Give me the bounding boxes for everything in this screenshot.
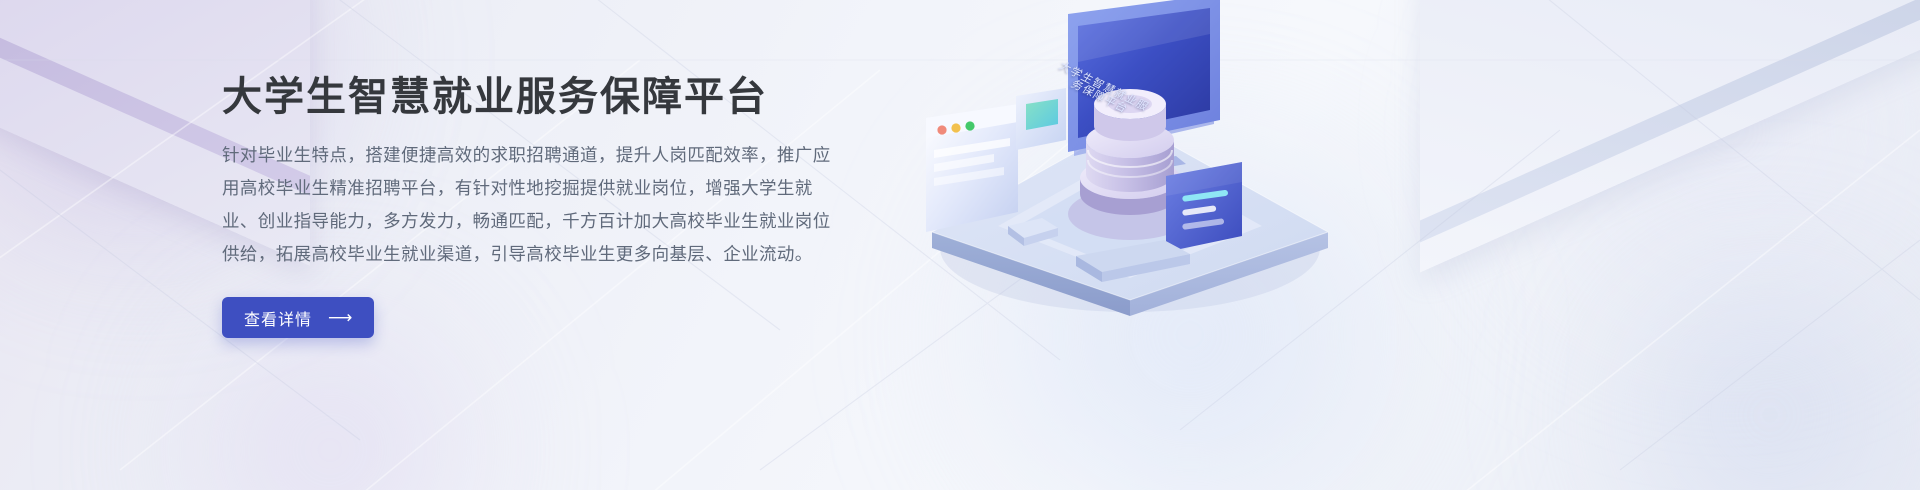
decorative-slab-right-edge <box>1420 0 1920 242</box>
description-line: 针对毕业生特点，搭建便捷高效的求职招聘通道，提升人岗匹配效率，推广应 <box>222 139 844 172</box>
view-details-label: 查看详情 <box>244 306 312 330</box>
arrow-right-icon: ⟶ <box>328 309 352 326</box>
illustration-browser-window <box>926 104 1018 232</box>
description-line: 用高校毕业生精准招聘平台，有针对性地挖掘提供就业岗位，增强大学生就 <box>222 172 844 205</box>
hero-illustration <box>890 0 1390 330</box>
description-line: 供给，拓展高校毕业生就业渠道，引导高校毕业生更多向基层、企业流动。 <box>222 238 844 271</box>
page-title: 大学生智慧就业服务保障平台 <box>222 74 862 120</box>
decorative-bloom-top-right <box>1450 0 1920 360</box>
description-line: 业、创业指导能力，多方发力，畅通匹配，千方百计加大高校毕业生就业岗位 <box>222 205 844 238</box>
decorative-bloom-lower-right <box>1560 250 1920 490</box>
illustration-accent-card <box>1016 88 1066 150</box>
hero-banner: 大学生智慧就业服务保障平台 针对毕业生特点，搭建便捷高效的求职招聘通道，提升人岗… <box>0 0 1920 490</box>
hero-description: 针对毕业生特点，搭建便捷高效的求职招聘通道，提升人岗匹配效率，推广应 用高校毕业… <box>222 139 844 271</box>
decorative-slab-right <box>1420 0 1920 272</box>
hero-copy: 大学生智慧就业服务保障平台 针对毕业生特点，搭建便捷高效的求职招聘通道，提升人岗… <box>222 74 862 338</box>
view-details-button[interactable]: 查看详情 ⟶ <box>222 297 374 338</box>
